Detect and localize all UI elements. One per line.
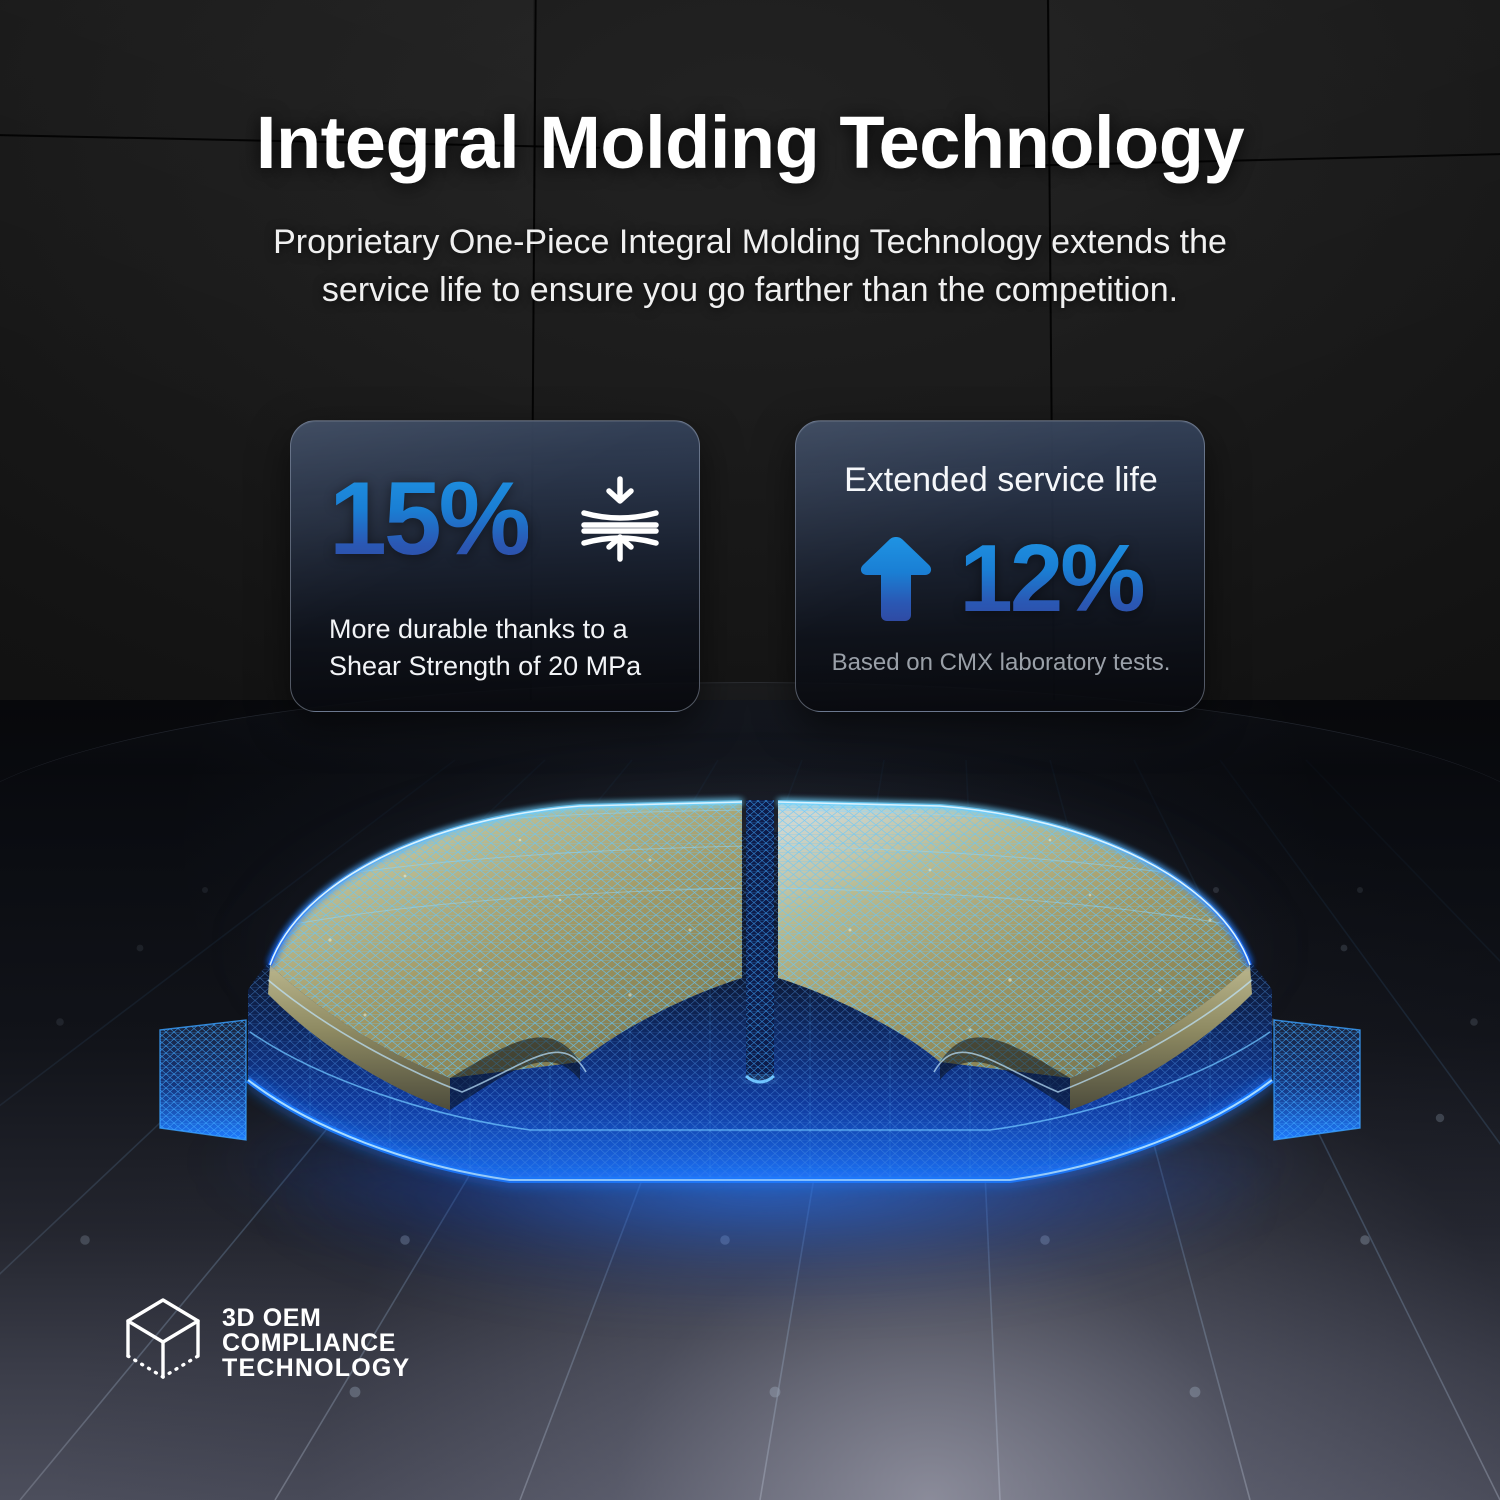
service-life-percent: 12% xyxy=(959,531,1142,627)
compression-arrows-icon xyxy=(578,473,662,565)
page-title: Integral Molding Technology xyxy=(0,104,1500,182)
durability-percent: 15% xyxy=(329,467,528,571)
wireframe-cube-icon xyxy=(122,1294,204,1392)
stat-card-service-life: Extended service life 12% Based on CMX l… xyxy=(795,420,1205,712)
stat-card-durability: 15% More durable thanks to a Shear S xyxy=(290,420,700,712)
service-life-title: Extended service life xyxy=(796,461,1205,500)
logo-line-3: TECHNOLOGY xyxy=(222,1356,410,1381)
durability-caption: More durable thanks to a Shear Strength … xyxy=(329,611,673,684)
promo-graphic: Integral Molding Technology Proprietary … xyxy=(0,0,1500,1500)
brand-logo-text: 3D OEM COMPLIANCE TECHNOLOGY xyxy=(222,1306,410,1381)
brake-pad-3d-render xyxy=(150,780,1370,1230)
service-life-caption: Based on CMX laboratory tests. xyxy=(796,649,1205,677)
pad-center-slot xyxy=(746,800,774,1082)
logo-line-1: 3D OEM xyxy=(222,1306,410,1331)
durability-value-row: 15% xyxy=(329,465,669,573)
service-life-value-row: 12% xyxy=(796,531,1205,627)
page-subtitle: Proprietary One-Piece Integral Molding T… xyxy=(250,218,1250,315)
logo-line-2: COMPLIANCE xyxy=(222,1331,410,1356)
brand-logo: 3D OEM COMPLIANCE TECHNOLOGY xyxy=(122,1288,522,1398)
up-arrow-icon xyxy=(859,535,933,623)
